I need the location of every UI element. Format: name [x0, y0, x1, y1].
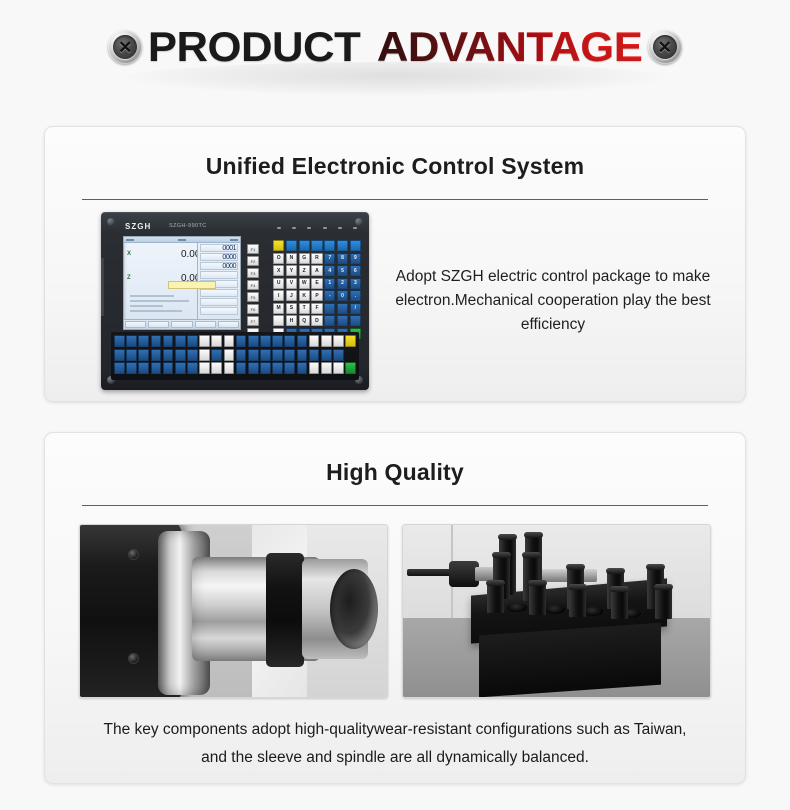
keypad-key: H — [286, 315, 297, 326]
machine-operation-key — [309, 335, 320, 347]
screen-axis-x-label: X — [127, 251, 131, 257]
keypad-key: Y — [286, 265, 297, 276]
keypad-key: F — [311, 303, 322, 314]
keypad-key: W — [299, 278, 310, 289]
screw-cross-icon-right: ✕ — [648, 30, 682, 64]
keypad-key: 9 — [350, 253, 361, 264]
machine-operation-key — [211, 362, 222, 374]
panel-function-key-column: F1 F2 F3 F4 F5 F6 F7 F8 — [247, 244, 259, 338]
card-title-rule — [82, 199, 708, 200]
panel-brand-logo: SZGH — [125, 222, 151, 231]
keypad-key: M — [273, 303, 284, 314]
keypad-key — [299, 240, 310, 251]
keypad-key — [337, 315, 348, 326]
keypad-key: - — [324, 290, 335, 301]
turret-base — [479, 623, 661, 698]
machine-operation-key — [284, 362, 295, 374]
screen-status-line — [130, 295, 174, 297]
machine-operation-key — [175, 349, 186, 361]
panel-machine-operation-keys — [111, 332, 359, 380]
machine-operation-key — [175, 362, 186, 374]
screen-side-menu-row — [200, 271, 238, 279]
keypad-key: 6 — [350, 265, 361, 276]
machine-operation-key — [163, 362, 174, 374]
keypad-key — [324, 315, 335, 326]
panel-screen: X 0.000 Z 0.000 0001 0000 0000 — [123, 236, 241, 330]
machine-operation-key — [126, 362, 137, 374]
card-title-rule — [82, 505, 708, 506]
panel-corner-screw-icon — [355, 218, 363, 226]
spindle-bore — [330, 569, 378, 649]
function-key: F1 — [247, 244, 259, 254]
keypad-key: 5 — [337, 265, 348, 276]
screen-side-menu-row — [200, 307, 238, 315]
machine-operation-key — [224, 335, 235, 347]
tool-holder — [529, 583, 546, 615]
keypad-key: Z — [299, 265, 310, 276]
panel-keypad: ONGR789XYZA456UVWE123IJKP-0.MSTF/HQD — [273, 240, 361, 339]
screen-soft-tab — [125, 321, 146, 328]
machine-operation-key — [199, 349, 210, 361]
screen-readout-1: 0001 — [222, 245, 236, 252]
keypad-key: 8 — [337, 253, 348, 264]
function-key: F5 — [247, 292, 259, 302]
machine-operation-key — [309, 362, 320, 374]
machine-operation-key — [199, 335, 210, 347]
machine-operation-key — [224, 362, 235, 374]
machine-operation-key — [187, 335, 198, 347]
keypad-key: R — [311, 253, 322, 264]
machine-operation-key — [260, 335, 271, 347]
machine-operation-key — [345, 362, 356, 374]
keypad-key: Q — [299, 315, 310, 326]
machine-operation-key — [224, 349, 235, 361]
machine-operation-key — [138, 335, 149, 347]
card-unified-electronic-control-system: Unified Electronic Control System SZGH S… — [44, 126, 746, 402]
screen-status-lines — [130, 295, 204, 315]
housing-bolt-icon — [128, 653, 139, 664]
function-key: F2 — [247, 256, 259, 266]
card-image-row — [45, 524, 745, 698]
machine-operation-key — [126, 335, 137, 347]
screen-tick — [178, 239, 186, 241]
cnc-control-panel-photo: SZGH SZGH-990TC X 0.000 Z 0.000 — [101, 212, 369, 390]
machine-operation-key — [151, 349, 162, 361]
keypad-key: / — [350, 303, 361, 314]
machine-operation-key — [333, 362, 344, 374]
card-body-text: Adopt SZGH electric control package to m… — [369, 265, 723, 337]
function-key: F4 — [247, 280, 259, 290]
function-key: F6 — [247, 304, 259, 314]
turret-socket — [583, 607, 603, 616]
panel-indicator — [277, 227, 281, 229]
keypad-key: 7 — [324, 253, 335, 264]
machine-operation-key — [345, 335, 356, 347]
panel-indicator — [323, 227, 327, 229]
keypad-key: D — [311, 315, 322, 326]
machine-operation-key — [187, 349, 198, 361]
screen-soft-tab — [195, 321, 216, 328]
screen-highlight-row — [168, 281, 216, 289]
screen-soft-tab — [171, 321, 192, 328]
panel-indicator — [338, 227, 342, 229]
page-title-product: PRODUCT — [148, 26, 360, 68]
machine-operation-key — [114, 349, 125, 361]
machine-operation-key — [163, 349, 174, 361]
screen-soft-tab — [218, 321, 239, 328]
machine-operation-key — [260, 349, 271, 361]
keypad-key: O — [273, 253, 284, 264]
screen-axis-z-label: Z — [127, 275, 131, 281]
keypad-key — [273, 240, 284, 251]
panel-indicator — [307, 227, 311, 229]
screen-status-line — [130, 300, 189, 302]
screen-readout-3: 0000 — [222, 263, 236, 270]
machine-operation-key — [151, 362, 162, 374]
header-title-row: ✕ PRODUCT ADVANTAGE ✕ — [0, 26, 790, 68]
keypad-key — [311, 240, 322, 251]
card-caption: The key components adopt high-qualitywea… — [45, 716, 745, 772]
tool-turret-photo — [402, 524, 711, 698]
screen-status-line — [130, 305, 163, 307]
tool-holder — [611, 589, 628, 619]
keypad-key: G — [299, 253, 310, 264]
tool-holder — [487, 583, 504, 613]
machine-operation-key — [248, 335, 259, 347]
screen-readout-2: 0000 — [222, 254, 236, 261]
panel-indicator — [353, 227, 357, 229]
screen-soft-tab — [148, 321, 169, 328]
keypad-key: U — [273, 278, 284, 289]
machine-operation-key — [163, 335, 174, 347]
panel-indicator — [292, 227, 296, 229]
machine-operation-key — [138, 349, 149, 361]
keypad-key: S — [286, 303, 297, 314]
screen-tick — [230, 239, 238, 241]
machine-operation-key — [151, 335, 162, 347]
keypad-key: V — [286, 278, 297, 289]
screen-side-menu-row — [200, 298, 238, 306]
keypad-key: N — [286, 253, 297, 264]
screen-tick — [126, 239, 134, 241]
machine-operation-key — [321, 349, 332, 361]
machine-operation-key — [187, 362, 198, 374]
machine-operation-key — [114, 362, 125, 374]
panel-corner-screw-icon — [107, 218, 115, 226]
panel-side-bracket — [101, 258, 104, 316]
keypad-key: . — [350, 290, 361, 301]
machine-operation-key — [199, 362, 210, 374]
machine-operation-key — [236, 349, 247, 361]
lathe-spindle-photo — [79, 524, 388, 698]
card-high-quality: High Quality — [44, 432, 746, 784]
screw-cross-glyph: ✕ — [118, 39, 132, 56]
tool-holder — [655, 587, 672, 619]
keypad-key — [337, 303, 348, 314]
keypad-key: 2 — [337, 278, 348, 289]
spindle-black-ring — [266, 553, 304, 667]
keypad-key: 4 — [324, 265, 335, 276]
card-body: SZGH SZGH-990TC X 0.000 Z 0.000 — [45, 212, 745, 390]
keypad-key: X — [273, 265, 284, 276]
screw-cross-icon-left: ✕ — [108, 30, 142, 64]
machine-operation-key — [309, 349, 320, 361]
keypad-key — [286, 240, 297, 251]
keypad-key: P — [311, 290, 322, 301]
screen-bottom-bar — [124, 319, 240, 329]
machine-operation-key — [114, 335, 125, 347]
keypad-key: E — [311, 278, 322, 289]
keypad-key: 1 — [324, 278, 335, 289]
machine-operation-key — [260, 362, 271, 374]
screen-side-menu-row — [200, 289, 238, 297]
panel-model-label: SZGH-990TC — [169, 223, 207, 229]
keypad-key — [337, 240, 348, 251]
machine-operation-key — [248, 362, 259, 374]
keypad-key: I — [273, 290, 284, 301]
machine-operation-key — [272, 362, 283, 374]
card-title: High Quality — [45, 459, 745, 486]
turret-socket — [507, 603, 527, 612]
machine-operation-key — [138, 362, 149, 374]
panel-indicator-row — [277, 227, 357, 229]
keypad-key: J — [286, 290, 297, 301]
machine-operation-key — [297, 362, 308, 374]
card-title: Unified Electronic Control System — [45, 153, 745, 180]
keypad-key: 3 — [350, 278, 361, 289]
machine-operation-key — [236, 362, 247, 374]
machine-operation-key — [236, 335, 247, 347]
machine-operation-key — [272, 335, 283, 347]
machine-operation-key — [297, 335, 308, 347]
machine-operation-key — [211, 349, 222, 361]
keypad-key: K — [299, 290, 310, 301]
machine-operation-key — [175, 335, 186, 347]
keypad-key — [324, 303, 335, 314]
machine-operation-key — [321, 335, 332, 347]
screw-cross-glyph: ✕ — [658, 39, 672, 56]
keypad-key — [273, 315, 284, 326]
screen-status-line — [130, 310, 182, 312]
machine-operation-key — [211, 335, 222, 347]
machine-operation-key — [333, 335, 344, 347]
machine-operation-key — [272, 349, 283, 361]
machine-operation-key — [126, 349, 137, 361]
machine-operation-key — [297, 349, 308, 361]
machine-operation-key — [284, 349, 295, 361]
housing-bolt-icon — [128, 549, 139, 560]
machine-operation-key — [284, 335, 295, 347]
keypad-key: T — [299, 303, 310, 314]
keypad-key — [350, 315, 361, 326]
page-header: ✕ PRODUCT ADVANTAGE ✕ — [0, 0, 790, 110]
tool-holder — [569, 587, 586, 617]
function-key: F3 — [247, 268, 259, 278]
panel-key-spacer — [345, 349, 356, 361]
function-key: F7 — [247, 316, 259, 326]
keypad-key: 0 — [337, 290, 348, 301]
keypad-key — [350, 240, 361, 251]
keypad-key: A — [311, 265, 322, 276]
page-title-advantage: ADVANTAGE — [377, 26, 642, 68]
machine-operation-key — [248, 349, 259, 361]
keypad-key — [324, 240, 335, 251]
turret-socket — [545, 605, 565, 614]
machine-operation-key — [321, 362, 332, 374]
machine-operation-key — [333, 349, 344, 361]
